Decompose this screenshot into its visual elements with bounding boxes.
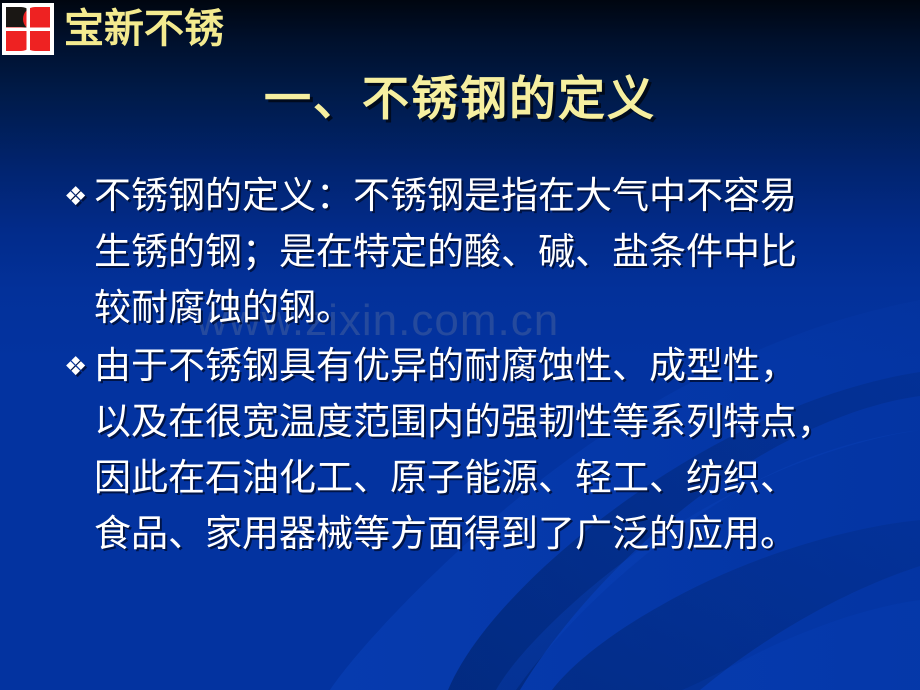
bullet-text-applications: 由于不锈钢具有优异的耐腐蚀性、成型性， 以及在很宽温度范围内的强韧性等系列特点，… <box>94 338 876 562</box>
bullet-text-definition: 不锈钢的定义：不锈钢是指在大气中不容易 生锈的钢；是在特定的酸、碱、盐条件中比 … <box>94 168 876 336</box>
slide-body: ❖ 不锈钢的定义：不锈钢是指在大气中不容易 生锈的钢；是在特定的酸、碱、盐条件中… <box>64 168 876 564</box>
bullet-line: 由于不锈钢具有优异的耐腐蚀性、成型性， <box>94 338 876 394</box>
bullet-line: 不锈钢的定义：不锈钢是指在大气中不容易 <box>94 168 876 224</box>
bullet-item-applications: ❖ 由于不锈钢具有优异的耐腐蚀性、成型性， 以及在很宽温度范围内的强韧性等系列特… <box>64 338 876 562</box>
slide-header: 宝新不锈 <box>0 0 224 58</box>
baoxin-logo-icon <box>2 3 54 55</box>
slide-title: 一、不锈钢的定义 <box>0 72 920 126</box>
bullet-diamond-icon: ❖ <box>64 168 94 224</box>
bullet-item-definition: ❖ 不锈钢的定义：不锈钢是指在大气中不容易 生锈的钢；是在特定的酸、碱、盐条件中… <box>64 168 876 336</box>
bullet-line: 生锈的钢；是在特定的酸、碱、盐条件中比 <box>94 224 876 280</box>
bullet-line: 较耐腐蚀的钢。 <box>94 280 876 336</box>
bullet-line: 以及在很宽温度范围内的强韧性等系列特点， <box>94 394 876 450</box>
presentation-slide: www.zixin.com.cn 宝新不锈 一、不锈钢的定义 <box>0 0 920 690</box>
bullet-line: 因此在石油化工、原子能源、轻工、纺织、 <box>94 450 876 506</box>
bullet-line: 食品、家用器械等方面得到了广泛的应用。 <box>94 506 876 562</box>
bullet-diamond-icon: ❖ <box>64 338 94 394</box>
brand-name: 宝新不锈 <box>64 9 224 49</box>
